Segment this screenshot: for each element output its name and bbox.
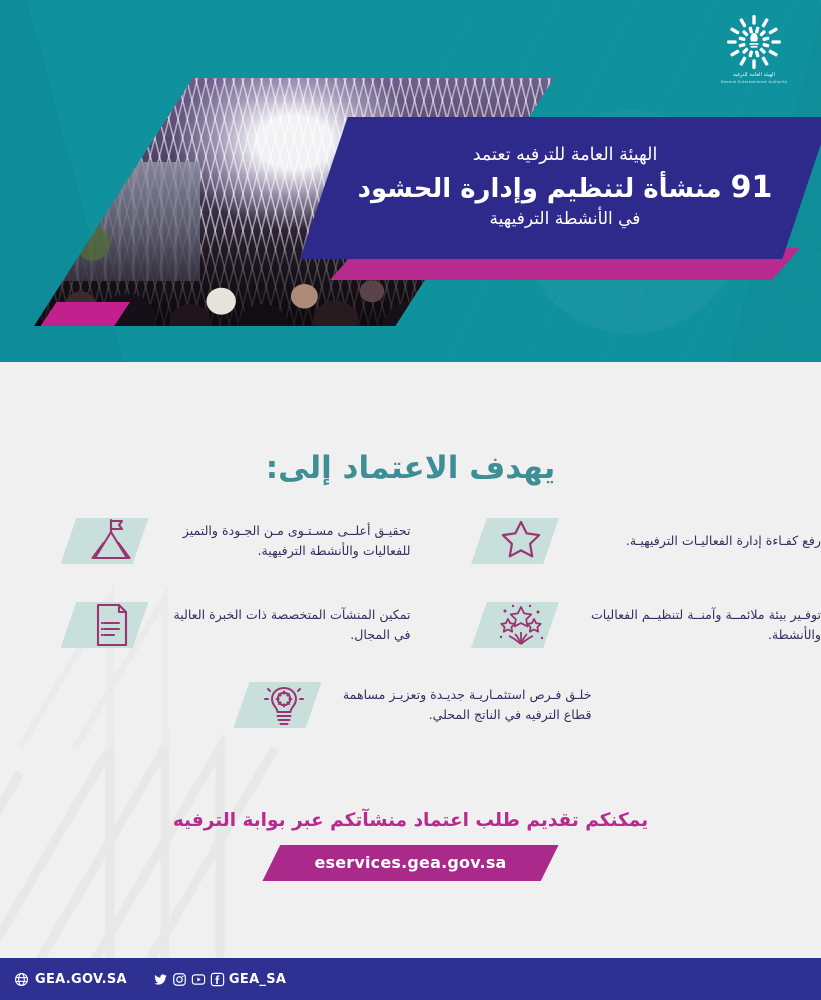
goal-item-investment: خلـق فـرص استثمـاريـة جديـدة وتعزيـز مسا… <box>0 674 821 736</box>
logo-arabic-name: الهيئة العامة للترفيه <box>715 72 793 80</box>
headline-panel: الهيئة العامة للترفيه تعتمد 91 منشأة لتن… <box>300 117 821 259</box>
globe-icon <box>14 972 29 987</box>
goals-row-1: رفع كفـاءة إدارة الفعاليـات الترفيهيـة. … <box>0 510 821 572</box>
headline-middle-rest: منشأة لتنظيم وإدارة الحشود <box>358 174 722 204</box>
goal-text-expertise: تمكين المنشآت المتخصصة ذات الخبرة العالي… <box>161 605 411 646</box>
mountain-flag-icon <box>83 513 139 569</box>
document-icon <box>83 597 139 653</box>
goal-text-quality: تحقيـق أعلــى مسـتـوى مـن الجـودة والتمي… <box>161 521 411 562</box>
goal-item-quality: تحقيـق أعلــى مسـتـوى مـن الجـودة والتمي… <box>0 510 411 572</box>
goal-item-safe-environment: توفـير بيئة ملائمــة وآمنــة لتنظيــم ال… <box>411 594 821 656</box>
eservices-portal-button[interactable]: eservices.gea.gov.sa <box>262 845 558 881</box>
goals-row-3: خلـق فـرص استثمـاريـة جديـدة وتعزيـز مسا… <box>0 674 821 736</box>
footer-website-group[interactable]: GEA.GOV.SA <box>14 972 127 987</box>
goal-icon-wrap-quality <box>57 510 153 572</box>
goal-icon-wrap-expertise <box>57 594 153 656</box>
facebook-icon[interactable] <box>210 972 225 987</box>
body-section: يهدف الاعتماد إلى: رفع كفـاءة إدارة الفع… <box>0 362 821 958</box>
footer-bar: GEA.GOV.SA GEA_SA <box>0 958 821 1000</box>
header-banner: الهيئة العامة للترفيه General Entertainm… <box>0 0 821 362</box>
goal-text-investment: خلـق فـرص استثمـاريـة جديـدة وتعزيـز مسا… <box>334 685 592 726</box>
youtube-icon[interactable] <box>191 972 206 987</box>
headline-middle: 91 منشأة لتنظيم وإدارة الحشود <box>358 170 773 206</box>
goal-text-safe-environment: توفـير بيئة ملائمــة وآمنــة لتنظيــم ال… <box>571 605 821 646</box>
cta-section: يمكنكم تقديم طلب اعتماد منشآتكم عبر بواب… <box>0 810 821 881</box>
instagram-icon[interactable] <box>172 972 187 987</box>
gea-logo: الهيئة العامة للترفيه General Entertainm… <box>715 14 793 84</box>
headline-top: الهيئة العامة للترفيه تعتمد <box>473 145 658 167</box>
goal-icon-wrap-safe-environment <box>467 594 563 656</box>
star-icon <box>493 513 549 569</box>
goal-icon-wrap-investment <box>230 674 326 736</box>
goals-title: يهدف الاعتماد إلى: <box>0 450 821 486</box>
fireworks-icon <box>493 597 549 653</box>
cta-text: يمكنكم تقديم طلب اعتماد منشآتكم عبر بواب… <box>0 810 821 831</box>
goal-text-efficiency: رفع كفـاءة إدارة الفعاليـات الترفيهيـة. <box>571 531 821 551</box>
headline-number: 91 <box>731 170 773 205</box>
goal-icon-wrap-efficiency <box>467 510 563 572</box>
gea-sunburst-icon <box>726 14 782 70</box>
footer-social-group[interactable]: GEA_SA <box>153 972 286 987</box>
headline-bottom: في الأنشطة الترفيهية <box>490 209 641 230</box>
lightbulb-gear-icon <box>256 677 312 733</box>
goals-row-2: توفـير بيئة ملائمــة وآمنــة لتنظيــم ال… <box>0 594 821 656</box>
goal-item-efficiency: رفع كفـاءة إدارة الفعاليـات الترفيهيـة. <box>411 510 821 572</box>
goals-list: رفع كفـاءة إدارة الفعاليـات الترفيهيـة. … <box>0 510 821 736</box>
logo-english-name: General Entertainment Authority <box>715 80 793 84</box>
twitter-icon[interactable] <box>153 972 168 987</box>
infographic-page: الهيئة العامة للترفيه General Entertainm… <box>0 0 821 1000</box>
goal-item-expertise: تمكين المنشآت المتخصصة ذات الخبرة العالي… <box>0 594 411 656</box>
footer-website-label: GEA.GOV.SA <box>35 972 127 987</box>
footer-social-handle: GEA_SA <box>229 972 286 987</box>
